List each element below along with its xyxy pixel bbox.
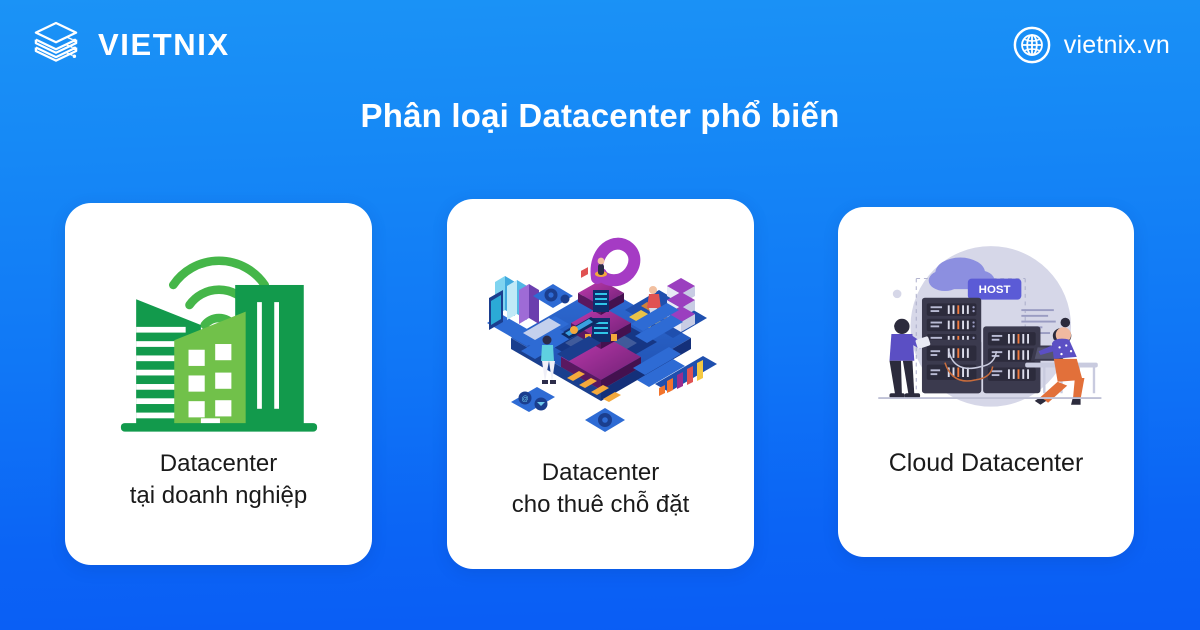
card-caption-line1: Datacenter: [542, 459, 659, 486]
page-header: VIETNIX vietnix.vn: [0, 0, 1200, 95]
card-caption: Datacenter cho thuê chỗ đặt: [447, 457, 754, 520]
card-caption-line2: cho thuê chỗ đặt: [459, 489, 742, 521]
site-url-badge[interactable]: vietnix.vn: [1013, 26, 1170, 64]
card-caption-line1: Cloud Datacenter: [889, 449, 1084, 477]
globe-icon: [1013, 26, 1051, 64]
card-datacenter-tai-doanh-nghiep[interactable]: Datacenter tại doanh nghiệp: [65, 203, 372, 565]
card-caption: Datacenter tại doanh nghiệp: [65, 448, 372, 511]
server-racks-with-engineers-and-cloud: HOST: [838, 207, 1134, 447]
card-cloud-datacenter[interactable]: HOST: [838, 207, 1134, 557]
site-url-label: vietnix.vn: [1064, 33, 1170, 58]
card-caption-line1: Datacenter: [160, 450, 277, 477]
brand-logo[interactable]: VIETNIX: [28, 16, 230, 72]
svg-text:@: @: [521, 396, 528, 403]
host-badge-label: HOST: [979, 284, 1011, 296]
brand-name: VIETNIX: [98, 29, 230, 60]
isometric-colocation-datacenter-platform: @: [447, 199, 754, 457]
card-datacenter-cho-thue-cho-dat[interactable]: @ Datacenter cho thuê chỗ đặt: [447, 199, 754, 569]
card-caption-line2: tại doanh nghiệp: [77, 480, 360, 512]
card-caption: Cloud Datacenter: [838, 447, 1134, 480]
stacked-layers-server-icon: [28, 16, 84, 72]
green-office-buildings-with-wifi-icon: [65, 203, 372, 448]
page-title: Phân loại Datacenter phổ biến: [0, 97, 1200, 135]
